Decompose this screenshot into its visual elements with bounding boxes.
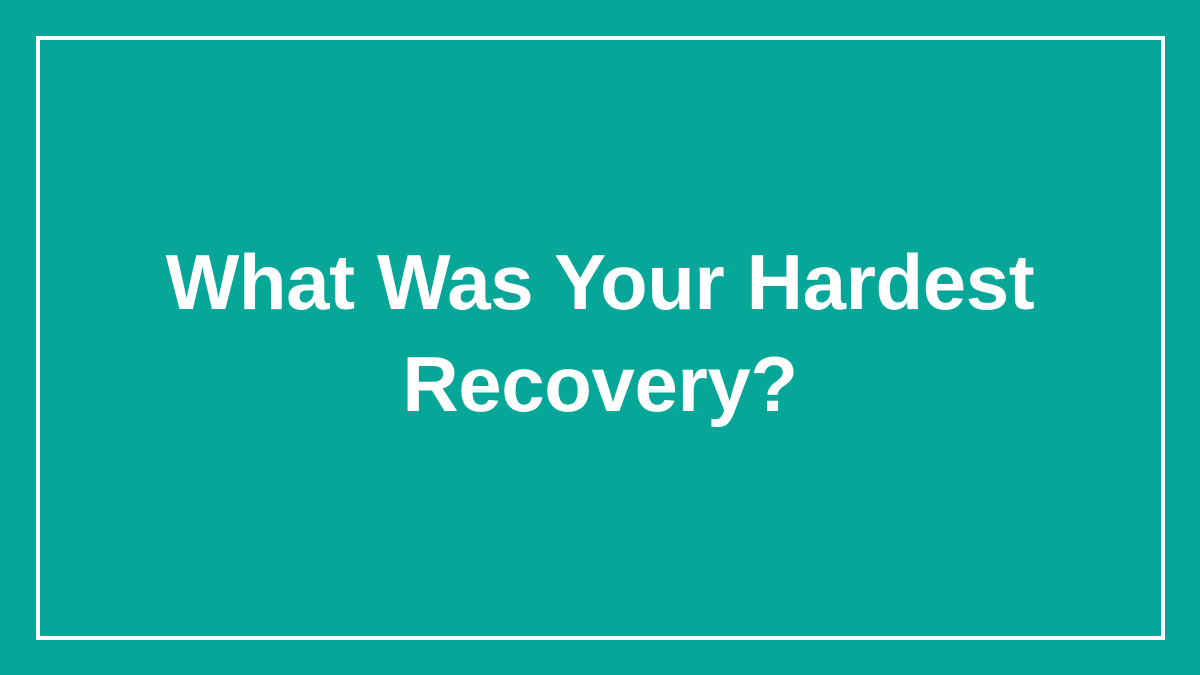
page-title: What Was Your Hardest Recovery?	[120, 232, 1080, 435]
page-title-line-2: Recovery?	[120, 334, 1080, 435]
headline-container: What Was Your Hardest Recovery?	[0, 0, 1200, 675]
title-card-slide: What Was Your Hardest Recovery?	[0, 0, 1200, 675]
page-title-line-1: What Was Your Hardest	[120, 232, 1080, 333]
